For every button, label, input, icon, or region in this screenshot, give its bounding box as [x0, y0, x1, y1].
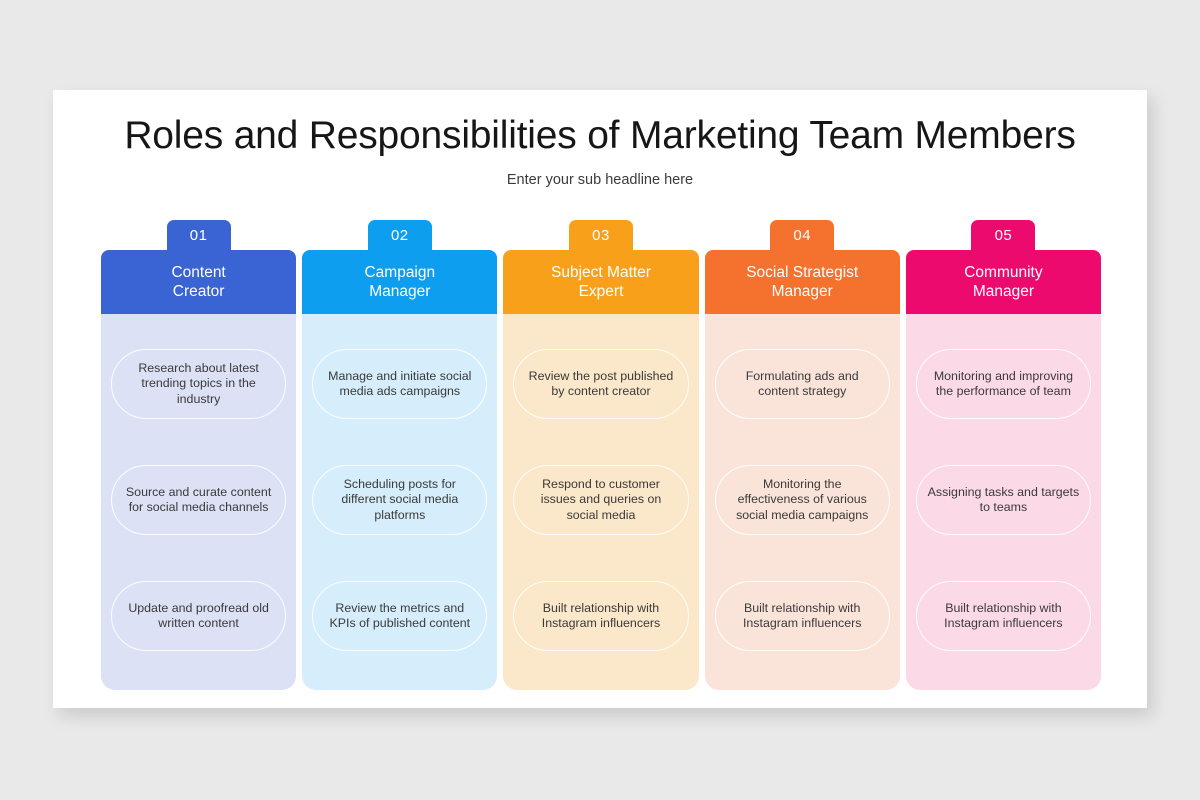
role-title-line2: Expert — [579, 283, 624, 300]
role-header: Content Creator — [101, 250, 296, 314]
roles-columns: 01 Content Creator Research about latest… — [101, 220, 1101, 690]
role-title: Subject Matter Expert — [551, 263, 651, 302]
responsibility-item: Review the post published by content cre… — [513, 349, 688, 419]
role-title-line2: Manager — [369, 283, 430, 300]
role-title-line1: Subject Matter — [551, 264, 651, 281]
role-header: Community Manager — [906, 250, 1101, 314]
responsibility-item: Assigning tasks and targets to teams — [916, 465, 1091, 535]
responsibility-item: Source and curate content for social med… — [111, 465, 286, 535]
responsibility-item: Update and proofread old written content — [111, 581, 286, 651]
responsibility-item: Monitoring the effectiveness of various … — [715, 465, 890, 535]
role-column-03[interactable]: 03 Subject Matter Expert Review the post… — [503, 220, 698, 690]
responsibility-item: Built relationship with Instagram influe… — [916, 581, 1091, 651]
role-body: Review the post published by content cre… — [503, 314, 698, 690]
role-title-line1: Content — [171, 264, 225, 281]
responsibility-item: Monitoring and improving the performance… — [916, 349, 1091, 419]
role-column-02[interactable]: 02 Campaign Manager Manage and initiate … — [302, 220, 497, 690]
role-column-04[interactable]: 04 Social Strategist Manager Formulating… — [705, 220, 900, 690]
responsibility-item: Scheduling posts for different social me… — [312, 465, 487, 535]
role-body: Manage and initiate social media ads cam… — [302, 314, 497, 690]
responsibility-item: Built relationship with Instagram influe… — [513, 581, 688, 651]
responsibility-item: Manage and initiate social media ads cam… — [312, 349, 487, 419]
responsibility-item: Review the metrics and KPIs of published… — [312, 581, 487, 651]
role-body: Monitoring and improving the performance… — [906, 314, 1101, 690]
responsibility-item: Research about latest trending topics in… — [111, 349, 286, 419]
role-column-01[interactable]: 01 Content Creator Research about latest… — [101, 220, 296, 690]
role-title-line1: Campaign — [364, 264, 435, 281]
role-body: Research about latest trending topics in… — [101, 314, 296, 690]
responsibility-item: Built relationship with Instagram influe… — [715, 581, 890, 651]
role-title: Content Creator — [171, 263, 225, 302]
role-title: Campaign Manager — [364, 263, 435, 302]
role-title-line1: Community — [964, 264, 1042, 281]
role-header: Subject Matter Expert — [503, 250, 698, 314]
role-title-line2: Manager — [772, 283, 833, 300]
role-body: Formulating ads and content strategy Mon… — [705, 314, 900, 690]
role-title-line1: Social Strategist — [746, 264, 858, 281]
role-title-line2: Manager — [973, 283, 1034, 300]
responsibility-item: Formulating ads and content strategy — [715, 349, 890, 419]
role-column-05[interactable]: 05 Community Manager Monitoring and impr… — [906, 220, 1101, 690]
page-title: Roles and Responsibilities of Marketing … — [53, 114, 1147, 158]
role-title-line2: Creator — [173, 283, 225, 300]
role-header: Social Strategist Manager — [705, 250, 900, 314]
responsibility-item: Respond to customer issues and queries o… — [513, 465, 688, 535]
role-title: Social Strategist Manager — [746, 263, 858, 302]
page-subtitle: Enter your sub headline here — [53, 172, 1147, 188]
role-header: Campaign Manager — [302, 250, 497, 314]
role-title: Community Manager — [964, 263, 1042, 302]
slide-card: Roles and Responsibilities of Marketing … — [53, 90, 1147, 708]
